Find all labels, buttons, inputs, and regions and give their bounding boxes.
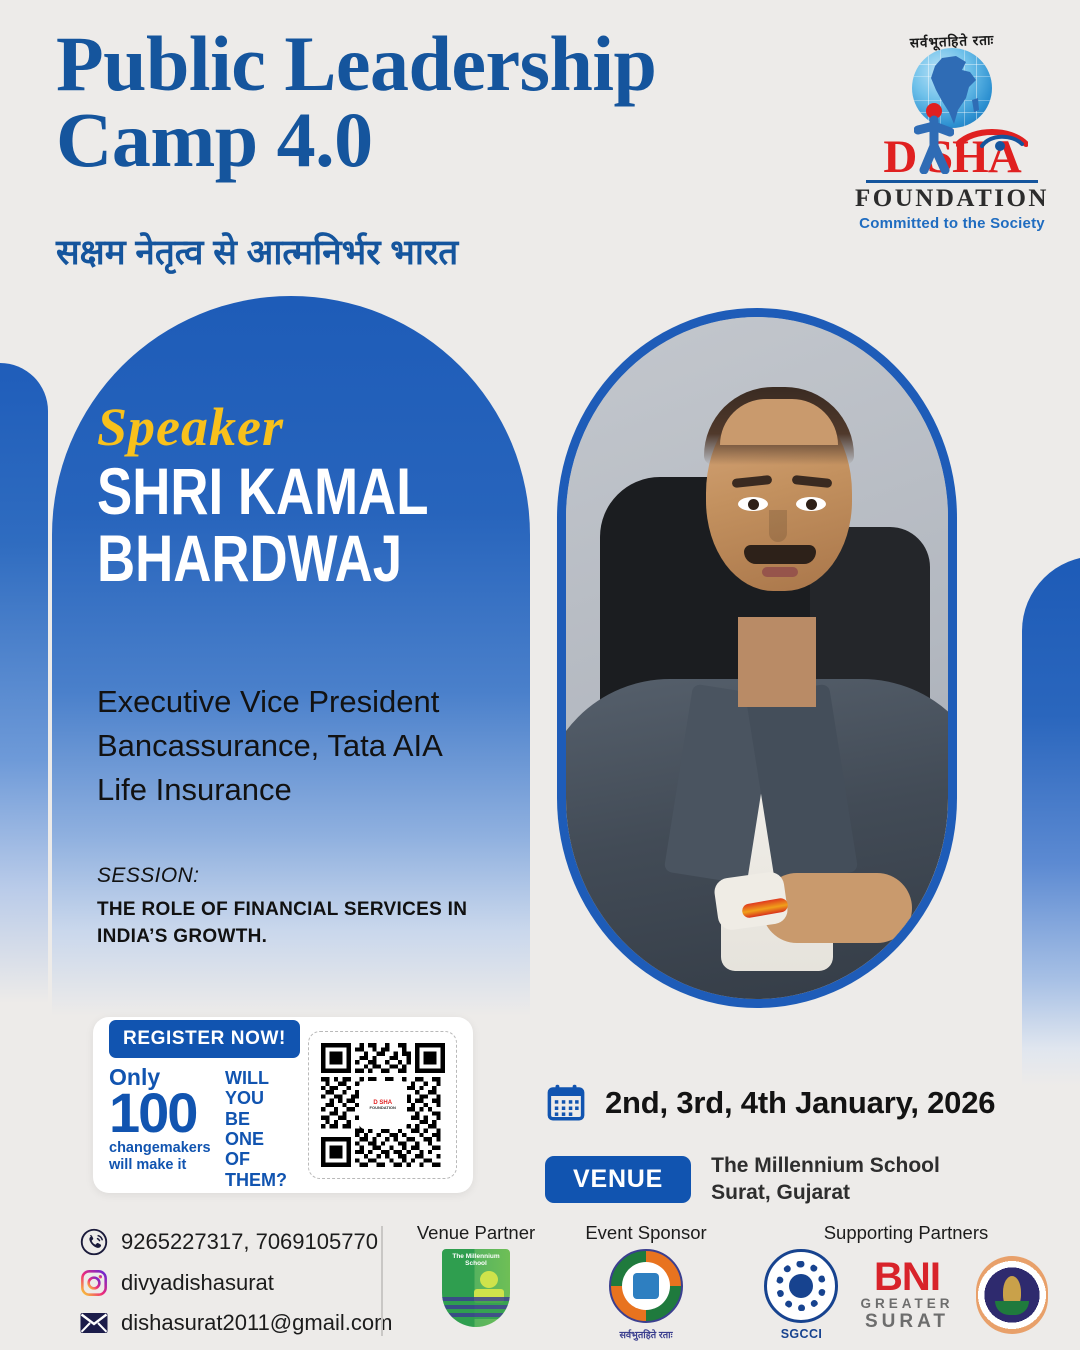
session-title-line-1: THE ROLE OF FINANCIAL SERVICES IN xyxy=(97,897,497,924)
supporting-partners-group: Supporting Partners SGCCI BNI GREATER SU… xyxy=(732,1222,1080,1341)
trust-emblem-logo xyxy=(976,1256,1048,1334)
register-count-column: Only 100 changemakers will make it xyxy=(109,1066,221,1174)
register-left: REGISTER NOW! Only 100 changemakers will… xyxy=(109,1020,300,1190)
subtitle-hindi: सक्षम नेतृत्व से आत्मनिर्भर भारत xyxy=(56,228,458,275)
sgcci-label: SGCCI xyxy=(764,1327,838,1341)
event-sponsor-logos: सर्वभुतहिते रताः xyxy=(562,1249,730,1341)
speaker-name-line-2: BHARDWAJ xyxy=(97,525,529,592)
partners-section: Venue Partner The Millennium School Even… xyxy=(392,1222,1080,1342)
speaker-portrait-image xyxy=(566,317,948,999)
contact-email-row[interactable]: dishasurat2011@gmail.com xyxy=(80,1310,392,1336)
school-wave-band xyxy=(442,1297,510,1319)
venue-partner-group: Venue Partner The Millennium School xyxy=(392,1222,560,1327)
phone-icon xyxy=(80,1228,108,1256)
poster-root: Public Leadership Camp 4.0 सक्षम नेतृत्व… xyxy=(0,0,1080,1350)
venue-partner-label: Venue Partner xyxy=(392,1222,560,1244)
contact-instagram-value: divyadishasurat xyxy=(121,1270,274,1296)
changemakers-line-2: will make it xyxy=(109,1157,221,1174)
logo-foundation-text: FOUNDATION xyxy=(852,186,1052,211)
millennium-school-logo: The Millennium School xyxy=(442,1249,510,1327)
question-line-6: THEM? xyxy=(225,1170,287,1190)
sgcci-core-icon xyxy=(789,1274,813,1298)
register-changemakers-text: changemakers will make it xyxy=(109,1140,221,1173)
supporting-partner-logos: SGCCI BNI GREATER SURAT xyxy=(732,1249,1080,1341)
footer-divider xyxy=(381,1226,383,1336)
decorative-arch-right xyxy=(1022,556,1080,1086)
contact-email-value: dishasurat2011@gmail.com xyxy=(121,1310,392,1336)
venue-badge: VENUE xyxy=(545,1156,691,1203)
logo-tagline-text: Committed to the Society xyxy=(852,215,1052,232)
speaker-photo-frame xyxy=(557,308,957,1008)
speaker-role-line-3: Life Insurance xyxy=(97,768,517,812)
event-date-text: 2nd, 3rd, 4th January, 2026 xyxy=(605,1085,995,1121)
portrait-moustache xyxy=(744,545,816,564)
emblem-base-icon xyxy=(995,1301,1029,1315)
register-count: 100 xyxy=(109,1089,221,1137)
navsarjan-motto: सर्वभुतहिते रताः xyxy=(609,1328,683,1341)
speaker-role-line-2: Bancassurance, Tata AIA xyxy=(97,724,517,768)
portrait-neck xyxy=(738,617,816,707)
contact-phone-row[interactable]: 9265227317, 7069105770 xyxy=(80,1228,392,1256)
navsarjan-figures-icon xyxy=(633,1273,659,1299)
portrait-eye-left xyxy=(738,497,768,511)
millennium-school-caption: The Millennium School xyxy=(442,1249,510,1267)
poster-header: Public Leadership Camp 4.0 सक्षम नेतृत्व… xyxy=(0,0,1080,290)
event-sponsor-label: Event Sponsor xyxy=(562,1222,730,1244)
qr-code-icon[interactable]: D SHA FOUNDATION xyxy=(321,1043,445,1167)
qr-code-box[interactable]: D SHA FOUNDATION xyxy=(308,1031,457,1179)
title-line-1: Public Leadership xyxy=(56,26,816,102)
email-icon xyxy=(80,1312,108,1334)
venue-name: The Millennium School xyxy=(711,1152,940,1179)
event-sponsor-group: Event Sponsor सर्वभुतहिते रताः xyxy=(562,1222,730,1341)
register-now-button[interactable]: REGISTER NOW! xyxy=(109,1020,300,1058)
calendar-icon xyxy=(545,1082,587,1124)
register-card[interactable]: REGISTER NOW! Only 100 changemakers will… xyxy=(93,1017,473,1193)
school-figure-icon xyxy=(480,1271,498,1288)
disha-foundation-logo: सर्वभूतहिते रताः D SHA xyxy=(852,32,1052,228)
qr-center-logo: D SHA FOUNDATION xyxy=(359,1081,407,1129)
running-figure-icon xyxy=(914,102,954,174)
question-line-3: BE xyxy=(225,1109,287,1129)
venue-city: Surat, Gujarat xyxy=(711,1179,940,1206)
sgcci-seal-icon xyxy=(764,1249,838,1323)
speaker-name: SHRI KAMAL BHARDWAJ xyxy=(97,458,529,593)
speaker-block: Speaker SHRI KAMAL BHARDWAJ Executive Vi… xyxy=(97,400,527,593)
eye-icon xyxy=(956,128,1028,158)
speaker-eyebrow: Speaker xyxy=(97,400,527,454)
bni-surat: SURAT xyxy=(860,1311,953,1333)
title-line-2: Camp 4.0 xyxy=(56,102,816,178)
portrait-mouth xyxy=(762,567,798,577)
logo-wordmark: D SHA xyxy=(852,132,1052,184)
session-title-line-2: INDIA’S GROWTH. xyxy=(97,924,497,951)
portrait-eye-right xyxy=(796,497,826,511)
supporting-partners-label: Supporting Partners xyxy=(732,1222,1080,1244)
page-title: Public Leadership Camp 4.0 xyxy=(56,26,816,179)
navsarjan-logo: सर्वभुतहिते रताः xyxy=(609,1249,683,1341)
speaker-role: Executive Vice President Bancassurance, … xyxy=(97,680,517,812)
question-line-1: WILL xyxy=(225,1068,287,1088)
register-stats: Only 100 changemakers will make it WILL … xyxy=(109,1066,300,1190)
question-line-4: ONE xyxy=(225,1129,287,1149)
contact-instagram-row[interactable]: divyadishasurat xyxy=(80,1269,392,1297)
contact-list: 9265227317, 7069105770 divyadishasurat xyxy=(80,1228,392,1349)
event-venue-row: VENUE The Millennium School Surat, Gujar… xyxy=(545,1152,940,1207)
qr-logo-foundation: FOUNDATION xyxy=(370,1106,396,1110)
session-title: THE ROLE OF FINANCIAL SERVICES IN INDIA’… xyxy=(97,897,497,951)
portrait-nose xyxy=(769,510,787,542)
bni-mark: BNI xyxy=(860,1258,953,1296)
instagram-icon xyxy=(80,1269,108,1297)
venue-text: The Millennium School Surat, Gujarat xyxy=(711,1152,940,1207)
changemakers-line-1: changemakers xyxy=(109,1140,221,1157)
bni-logo: BNI GREATER SURAT xyxy=(860,1258,953,1333)
event-date-row: 2nd, 3rd, 4th January, 2026 xyxy=(545,1082,995,1124)
register-question: WILL YOU BE ONE OF THEM? xyxy=(225,1068,287,1190)
speaker-role-line-1: Executive Vice President xyxy=(97,680,517,724)
venue-partner-logos: The Millennium School xyxy=(392,1249,560,1327)
contact-phone-value: 9265227317, 7069105770 xyxy=(121,1229,378,1255)
question-line-5: OF xyxy=(225,1149,287,1169)
question-line-2: YOU xyxy=(225,1088,287,1108)
decorative-arch-left xyxy=(0,363,48,1003)
sgcci-logo: SGCCI xyxy=(764,1249,838,1341)
speaker-name-line-1: SHRI KAMAL xyxy=(97,458,529,525)
session-info: SESSION: THE ROLE OF FINANCIAL SERVICES … xyxy=(97,864,497,951)
navsarjan-seal-icon xyxy=(609,1249,683,1323)
logo-underline xyxy=(866,180,1038,183)
session-label: SESSION: xyxy=(97,864,497,888)
bni-greater: GREATER xyxy=(860,1296,953,1311)
